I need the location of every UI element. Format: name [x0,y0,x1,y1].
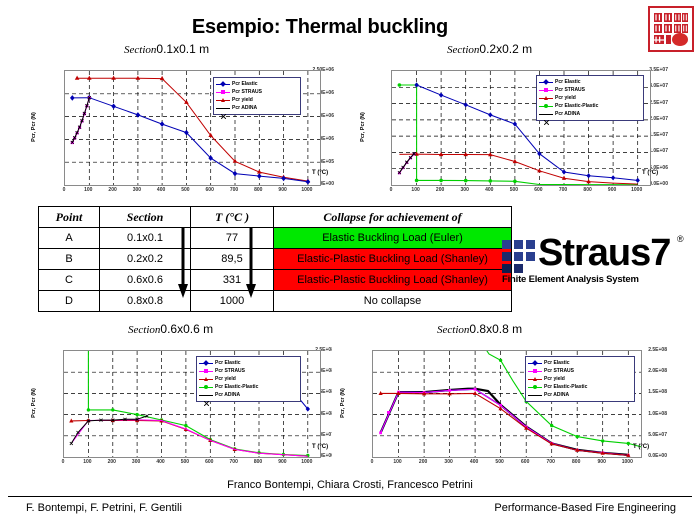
red-chinese-seal-icon [648,6,694,52]
legend-label: Pcr yield [232,96,253,104]
chart-03-xtick: 600 [205,459,213,465]
chart-02-ylabel: Pcr, Pcr (N) [360,101,366,153]
chart-04-xtick: 700 [547,459,555,465]
chart-02-xtick: 100 [411,187,419,193]
legend-label: Pcr STRAUS [555,86,585,94]
legend-key-yield-icon [199,375,213,383]
chart-01-ylabel: Pcr, Pcr (N) [31,101,37,153]
legend-key-straus-icon [528,367,542,375]
chart-03-plot: Pcr Elastic Pcr STRAUS Pcr yield [63,350,321,458]
chart-03-xtick: 200 [108,459,116,465]
authors-line: Franco Bontempi, Chiara Crosti, Francesc… [0,479,700,491]
chart-02: Pcr, Pcr (N) 0.0E+00 5.0E+06 1.0E+07 1.5… [354,58,668,204]
straus7-logo-wordmark: Straus7 [538,232,670,274]
chart-02-xtick: 800 [583,187,591,193]
chart-03-xlabel: T (°C) [312,444,328,450]
chart-01: Pcr, Pcr (N) 0.00E+00 5.00E+05 1.00E+06 … [24,58,334,204]
legend-item: Pcr STRAUS [528,367,631,375]
chart-01-xtick: 700 [230,187,238,193]
legend-key-straus-icon [539,86,553,94]
legend-item: Pcr yield [199,375,297,383]
chart-01-xlabel: T (°C) [312,170,328,176]
chart-02-xlabel: T (°C) [642,170,658,176]
chart-02-xtick: 1000 [631,187,642,193]
footer-left-text: F. Bontempi, F. Petrini, F. Gentili [26,502,182,514]
chart-01-xtick: 900 [278,187,286,193]
chart-04-ylabel: Pcr, Pcr (N) [340,377,346,429]
chart-02-caption: Section0.2x0.2 m [447,42,532,56]
cell-collapse: Elastic-Plastic Buckling Load (Shanley) [274,270,512,291]
chart-03-xtick: 900 [278,459,286,465]
chart-02-xtick: 500 [510,187,518,193]
chart-03-xtick: 300 [132,459,140,465]
legend-label: Pcr yield [215,375,236,383]
chart-02-xtick: 200 [436,187,444,193]
registered-trademark-icon: ® [677,234,684,244]
table-header-collapse: Collapse for achievement of [274,207,512,228]
legend-key-elastic-plastic-icon [199,383,213,391]
page-title: Esempio: Thermal buckling [0,16,640,39]
chart-01-xtick: 500 [181,187,189,193]
legend-item: Pcr yield [539,94,640,102]
legend-label: Pcr yield [544,375,565,383]
legend-item: Pcr Elastic-Plastic [199,383,297,391]
chart-02-xtick: 400 [485,187,493,193]
table-header-point: Point [39,207,100,228]
cell-collapse: Elastic Buckling Load (Euler) [274,228,512,249]
legend-item: Pcr Elastic [539,78,640,86]
chart-01-caption-prefix: Section [124,44,156,56]
legend-label: Pcr Elastic-Plastic [544,383,587,391]
legend-item: Pcr STRAUS [216,88,297,96]
cell-section: 0.2x0.2 [100,249,191,270]
chart-01-xtick: 300 [133,187,141,193]
chart-03-caption-value: 0.6x0.6 m [160,322,213,336]
legend-item: Pcr Elastic [216,80,297,88]
chart-02-caption-prefix: Section [447,44,479,56]
slide-root: Esempio: Thermal buckling [0,0,700,525]
legend-item: Pcr STRAUS [199,367,297,375]
chart-02-plot: Pcr Elastic Pcr STRAUS Pcr yield [391,70,651,186]
legend-item: Pcr Elastic-Plastic [528,383,631,391]
chart-04-plot: Pcr Elastic Pcr STRAUS Pcr yield [372,350,642,458]
legend-item: Pcr ADINA [528,391,631,399]
chart-03-xtick: 100 [83,459,91,465]
chart-04-caption-prefix: Section [437,324,469,336]
legend-key-yield-icon [216,96,230,104]
legend-label: Pcr STRAUS [232,88,262,96]
chart-04-xlabel: T (°C) [633,444,649,450]
chart-02-xtick: 900 [608,187,616,193]
straus7-logo: Straus7 ® Finite Element Analysis System [500,232,696,290]
table-header-row: Point Section T (°C ) Collapse for achie… [39,207,512,228]
chart-01-xtick: 1000 [301,187,312,193]
chart-04-xtick: 200 [419,459,427,465]
legend-label: Pcr Elastic-Plastic [215,383,258,391]
chart-04-caption: Section0.8x0.8 m [437,322,522,336]
legend-label: Pcr yield [555,94,576,102]
chart-01-caption: Section0.1x0.1 m [124,42,209,56]
chart-03-xtick: 500 [181,459,189,465]
straus7-logo-subtitle: Finite Element Analysis System [502,274,639,285]
chart-01-xtick: 600 [206,187,214,193]
legend-item: Pcr Elastic-Plastic [539,102,640,110]
cell-temp: 1000 [191,291,274,312]
chart-04-caption-value: 0.8x0.8 m [469,322,522,336]
legend-key-elastic-icon [199,359,213,367]
chart-02-xtick: 600 [534,187,542,193]
legend-key-yield-icon [528,375,542,383]
legend-label: Pcr Elastic [555,78,581,86]
legend-item: Pcr Elastic [528,359,631,367]
cell-point: D [39,291,100,312]
legend-item: Pcr ADINA [539,110,640,118]
chart-01-plot: Pcr Elastic Pcr STRAUS Pcr yield [64,70,321,186]
legend-key-elastic-icon [528,359,542,367]
cell-temp: 89,5 [191,249,274,270]
legend-key-adina-icon [216,104,230,112]
cell-section: 0.1x0.1 [100,228,191,249]
legend-key-straus-icon [216,88,230,96]
cell-section: 0.6x0.6 [100,270,191,291]
legend-label: Pcr Elastic [215,359,241,367]
chart-03-xtick: 1000 [301,459,312,465]
chart-01-xtick: 400 [157,187,165,193]
legend-label: Pcr ADINA [232,104,257,112]
chart-03-caption-prefix: Section [128,324,160,336]
table-header-section: Section [100,207,191,228]
table-row: D 0.8x0.8 1000 No collapse [39,291,512,312]
table-row: A 0.1x0.1 77 Elastic Buckling Load (Eule… [39,228,512,249]
chart-02-xtick: 0 [390,187,393,193]
cell-point: B [39,249,100,270]
chart-04: Pcr, Pcr (N) 0.0E+00 5.0E+07 1.0E+08 1.5… [332,338,667,478]
chart-02-xtick: 300 [461,187,469,193]
table-header-temp: T (°C ) [191,207,274,228]
chart-04-xtick: 100 [393,459,401,465]
legend-key-elastic-icon [539,78,553,86]
chart-03-caption: Section0.6x0.6 m [128,322,213,336]
chart-01-legend: Pcr Elastic Pcr STRAUS Pcr yield [213,77,301,115]
table-row: B 0.2x0.2 89,5 Elastic-Plastic Buckling … [39,249,512,270]
legend-label: Pcr ADINA [555,110,580,118]
legend-label: Pcr ADINA [544,391,569,399]
footer-divider [8,496,692,497]
legend-label: Pcr STRAUS [215,367,245,375]
chart-03: Pcr, Pcr (N) 0.0E+00 5.0E+07 1.0E+08 1.5… [24,338,334,478]
legend-key-yield-icon [539,94,553,102]
chart-04-xtick: 400 [470,459,478,465]
cell-point: C [39,270,100,291]
legend-key-straus-icon [199,367,213,375]
legend-label: Pcr Elastic-Plastic [555,102,598,110]
chart-04-xtick: 1000 [622,459,633,465]
cell-collapse: No collapse [274,291,512,312]
chart-01-xtick: 800 [254,187,262,193]
chart-04-xtick: 300 [444,459,452,465]
chart-03-xtick: 0 [62,459,65,465]
chart-04-xtick: 500 [495,459,503,465]
legend-item: Pcr yield [528,375,631,383]
chart-04-xtick: 0 [371,459,374,465]
legend-item: Pcr yield [216,96,297,104]
chart-04-legend: Pcr Elastic Pcr STRAUS Pcr yield [525,356,635,402]
chart-01-xtick: 100 [84,187,92,193]
legend-item: Pcr ADINA [216,104,297,112]
chart-01-caption-value: 0.1x0.1 m [156,42,209,56]
legend-key-elastic-plastic-icon [528,383,542,391]
results-table: Point Section T (°C ) Collapse for achie… [38,206,512,312]
legend-key-elastic-plastic-icon [539,102,553,110]
legend-key-elastic-icon [216,80,230,88]
chart-01-xtick: 0 [63,187,66,193]
legend-key-adina-icon [539,110,553,118]
legend-label: Pcr ADINA [215,391,240,399]
cell-temp: 331 [191,270,274,291]
legend-label: Pcr Elastic [232,80,258,88]
chart-03-xtick: 800 [254,459,262,465]
chart-01-xtick: 200 [108,187,116,193]
chart-03-xtick: 400 [156,459,164,465]
legend-item: Pcr Elastic [199,359,297,367]
chart-03-xtick: 700 [230,459,238,465]
table-row: C 0.6x0.6 331 Elastic-Plastic Buckling L… [39,270,512,291]
chart-02-caption-value: 0.2x0.2 m [479,42,532,56]
legend-item: Pcr ADINA [199,391,297,399]
chart-03-ylabel: Pcr, Pcr (N) [31,377,37,429]
cell-point: A [39,228,100,249]
legend-item: Pcr STRAUS [539,86,640,94]
legend-label: Pcr STRAUS [544,367,574,375]
legend-key-adina-icon [199,391,213,399]
chart-04-xtick: 600 [521,459,529,465]
cell-collapse: Elastic-Plastic Buckling Load (Shanley) [274,249,512,270]
chart-04-xtick: 900 [598,459,606,465]
chart-02-legend: Pcr Elastic Pcr STRAUS Pcr yield [536,75,644,121]
cell-section: 0.8x0.8 [100,291,191,312]
straus7-logo-grid-icon [502,240,536,274]
chart-02-xtick: 700 [559,187,567,193]
legend-key-adina-icon [528,391,542,399]
footer-right-text: Performance-Based Fire Engineering [494,502,676,514]
cell-temp: 77 [191,228,274,249]
chart-04-xtick: 800 [572,459,580,465]
chart-03-legend: Pcr Elastic Pcr STRAUS Pcr yield [196,356,301,402]
legend-label: Pcr Elastic [544,359,570,367]
